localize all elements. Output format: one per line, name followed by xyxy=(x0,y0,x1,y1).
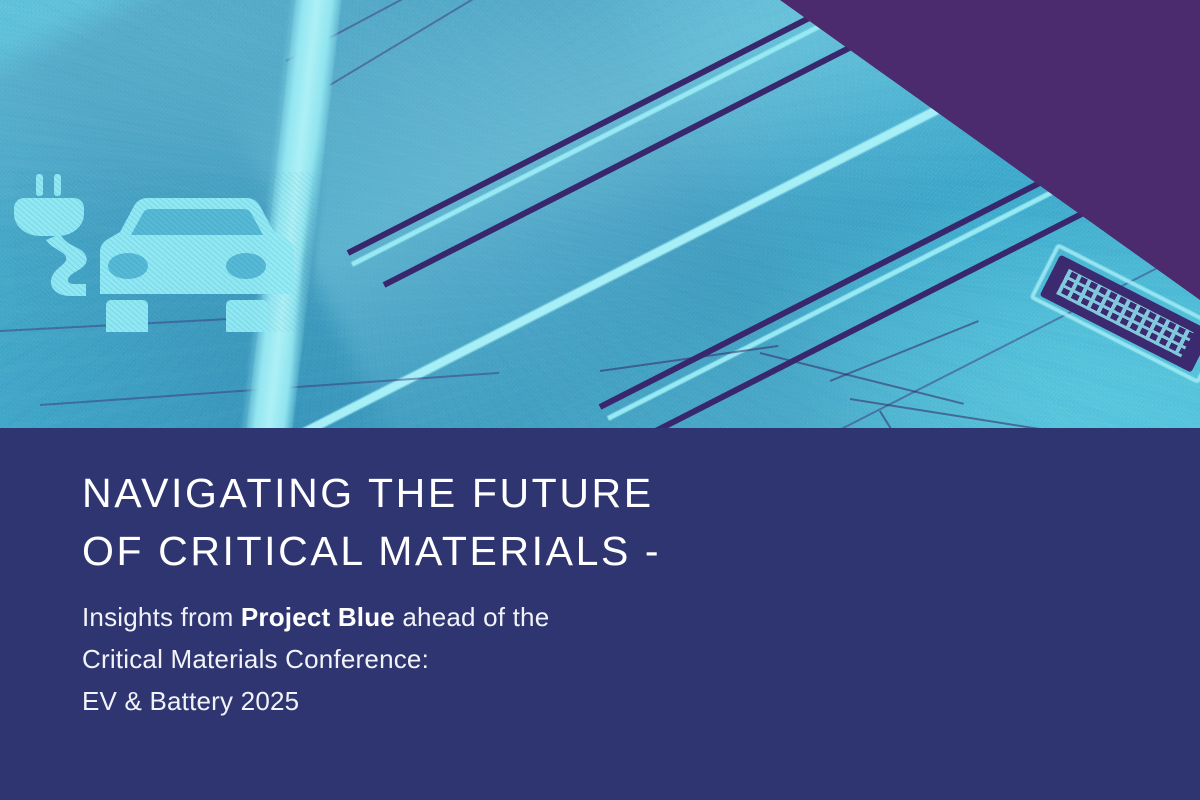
subtitle-line-1: Insights from Project Blue ahead of the xyxy=(82,596,549,638)
subtitle-line-3: EV & Battery 2025 xyxy=(82,680,549,722)
text-band: NAVIGATING THE FUTURE OF CRITICAL MATERI… xyxy=(0,428,1200,800)
subtitle-line1-post: ahead of the xyxy=(395,602,549,632)
hero-photo xyxy=(0,0,1200,428)
banner-subtitle: Insights from Project Blue ahead of the … xyxy=(82,596,549,722)
ev-charging-icon xyxy=(14,172,314,332)
subtitle-brand-name: Project Blue xyxy=(241,602,395,632)
banner-canvas: NAVIGATING THE FUTURE OF CRITICAL MATERI… xyxy=(0,0,1200,800)
subtitle-line-2: Critical Materials Conference: xyxy=(82,638,549,680)
banner-title: NAVIGATING THE FUTURE OF CRITICAL MATERI… xyxy=(82,464,661,580)
subtitle-line1-pre: Insights from xyxy=(82,602,241,632)
